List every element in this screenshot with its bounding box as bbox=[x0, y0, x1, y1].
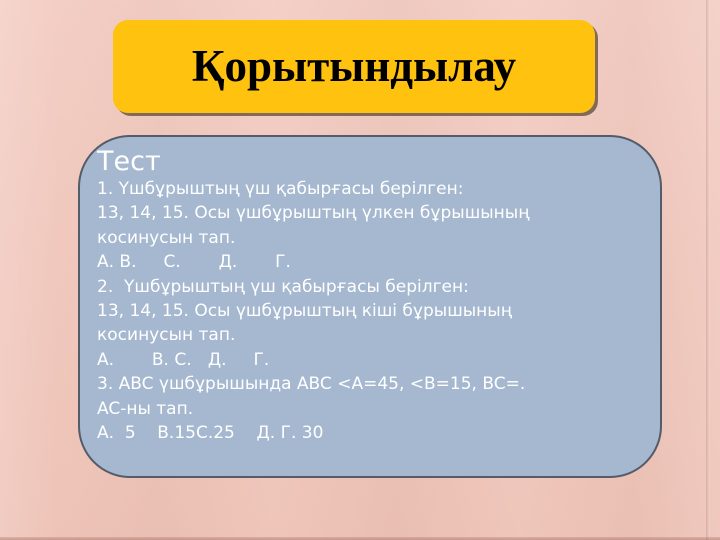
question-1-options: А. В. С. Д. Г. bbox=[97, 250, 650, 274]
slide-canvas: Қорытындылау Тест 1. Үшбұрыштың үш қабыр… bbox=[0, 0, 720, 540]
test-heading: Тест bbox=[97, 146, 650, 177]
question-2-line-2: 13, 14, 15. Осы үшбұрыштың кіші бұрышыны… bbox=[97, 299, 650, 323]
question-1-line-2: 13, 14, 15. Осы үшбұрыштың үлкен бұрышын… bbox=[97, 201, 650, 225]
question-2-line-1: 2. Үшбұрыштың үш қабырғасы берілген: bbox=[97, 275, 650, 299]
question-3-line-2: AC-ны тап. bbox=[97, 397, 650, 421]
question-3-options: А. 5 В.15С.25 Д. Г. 30 bbox=[97, 421, 650, 445]
content-panel: Тест 1. Үшбұрыштың үш қабырғасы берілген… bbox=[78, 135, 662, 478]
question-1-line-3: косинусын тап. bbox=[97, 226, 650, 250]
title-banner: Қорытындылау bbox=[113, 20, 595, 113]
slide-right-edge-strip bbox=[706, 0, 710, 540]
question-2-options: А. В. С. Д. Г. bbox=[97, 348, 650, 372]
content-text-block: Тест 1. Үшбұрыштың үш қабырғасы берілген… bbox=[97, 146, 650, 445]
question-3-line-1: 3. ABC үшбұрышында ABC <A=45, <B=15, BC=… bbox=[97, 372, 650, 396]
question-1-line-1: 1. Үшбұрыштың үш қабырғасы берілген: bbox=[97, 177, 650, 201]
question-2-line-3: косинусын тап. bbox=[97, 323, 650, 347]
slide-title: Қорытындылау bbox=[192, 44, 516, 89]
